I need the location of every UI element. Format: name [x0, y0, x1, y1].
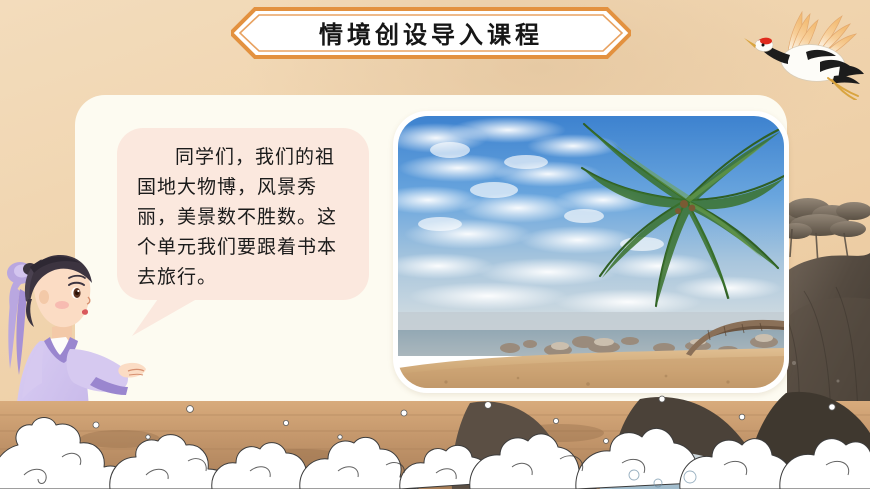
- photo-frame[interactable]: [393, 111, 789, 393]
- crane-icon: [744, 4, 866, 100]
- title-banner: 情境创设导入课程: [231, 7, 631, 59]
- speech-bubble: 同学们，我们的祖国地大物博，风景秀丽，美景数不胜数。这个单元我们要跟着书本去旅行…: [117, 128, 369, 300]
- page-title: 情境创设导入课程: [231, 7, 631, 59]
- wave-decoration: [0, 379, 870, 489]
- beach-photo: [398, 116, 784, 388]
- slide-root: 情境创设导入课程: [0, 0, 870, 489]
- speech-bubble-text: 同学们，我们的祖国地大物博，风景秀丽，美景数不胜数。这个单元我们要跟着书本去旅行…: [137, 143, 353, 293]
